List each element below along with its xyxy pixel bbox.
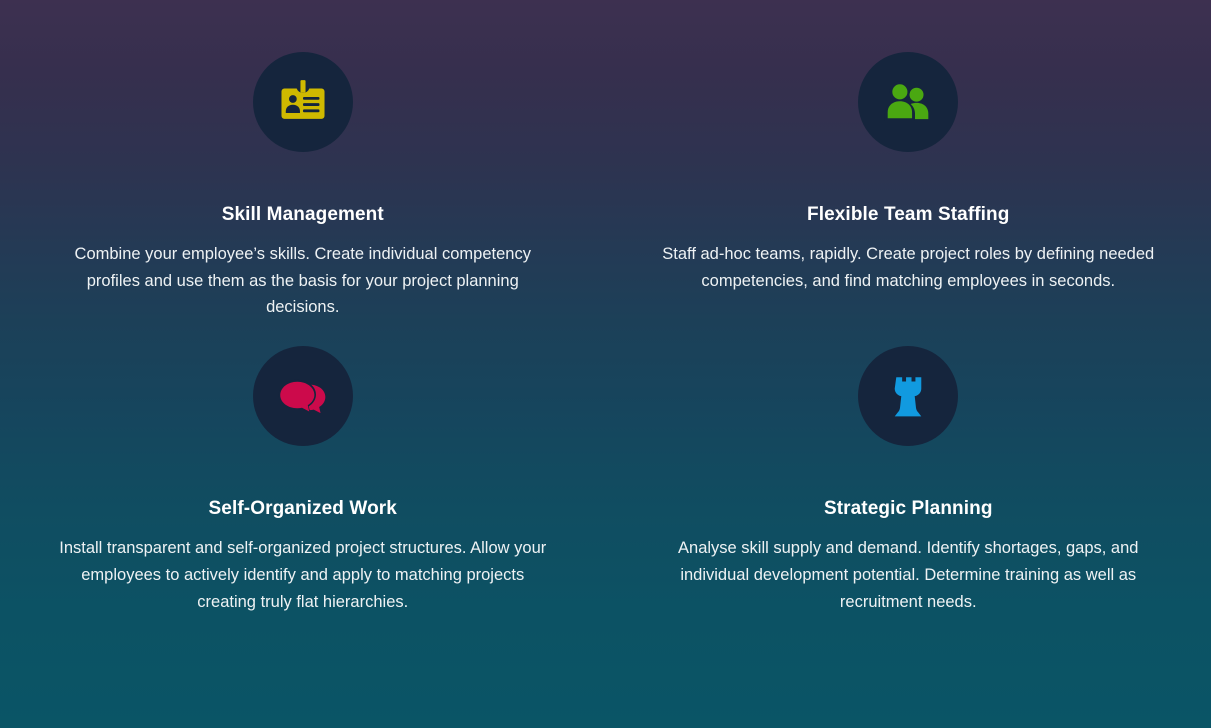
feature-description: Install transparent and self-organized p… (50, 535, 555, 615)
feature-description: Staff ad-hoc teams, rapidly. Create proj… (656, 241, 1161, 295)
users-group-icon (882, 76, 934, 128)
feature-description: Analyse skill supply and demand. Identif… (656, 535, 1161, 615)
chess-rook-icon (883, 371, 933, 421)
icon-circle-self-organized-work (253, 346, 353, 446)
feature-title: Self-Organized Work (209, 498, 397, 521)
feature-title: Flexible Team Staffing (807, 204, 1009, 227)
speech-bubbles-icon (277, 370, 329, 422)
icon-circle-strategic-planning (858, 346, 958, 446)
icon-circle-flexible-team-staffing (858, 52, 958, 152)
feature-description: Combine your employee’s skills. Create i… (50, 241, 555, 321)
icon-circle-skill-management (253, 52, 353, 152)
feature-card-flexible-team-staffing: Flexible Team Staffing Staff ad-hoc team… (606, 52, 1211, 321)
features-grid: Skill Management Combine your employee’s… (0, 0, 1211, 615)
id-badge-icon (276, 75, 330, 129)
feature-title: Skill Management (222, 204, 384, 227)
feature-card-self-organized-work: Self-Organized Work Install transparent … (0, 321, 606, 615)
feature-title: Strategic Planning (824, 498, 993, 521)
feature-card-skill-management: Skill Management Combine your employee’s… (0, 52, 606, 321)
feature-card-strategic-planning: Strategic Planning Analyse skill supply … (606, 321, 1211, 615)
